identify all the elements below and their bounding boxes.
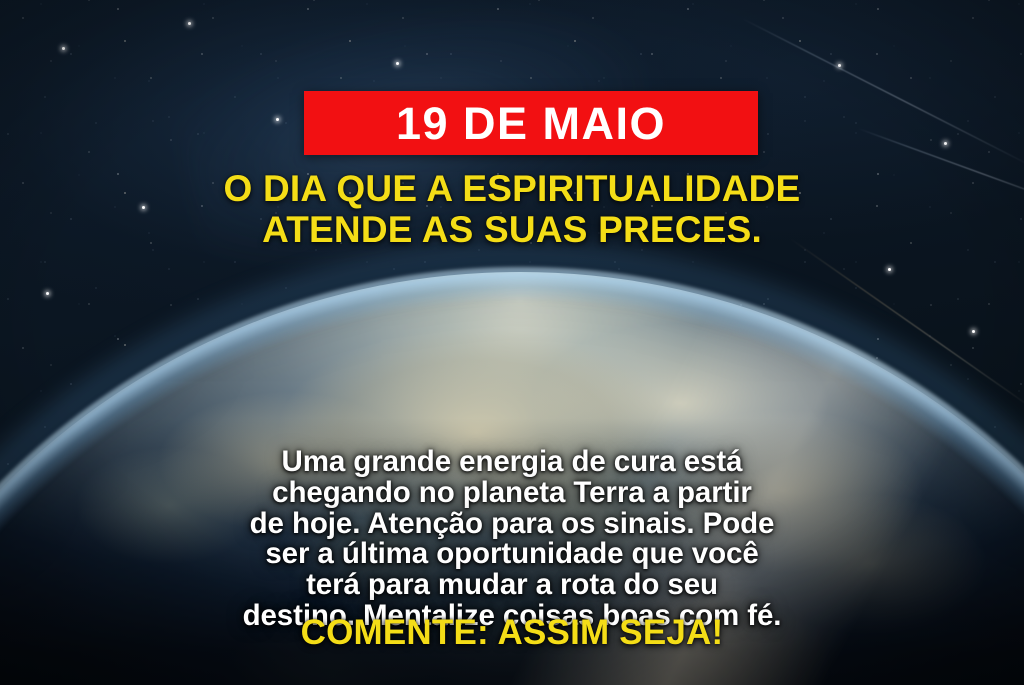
headline-line-2: ATENDE AS SUAS PRECES. bbox=[28, 209, 996, 250]
date-banner: 19 DE MAIO bbox=[304, 91, 758, 155]
date-banner-label: 19 DE MAIO bbox=[396, 101, 666, 146]
body-line: terá para mudar a rota do seu bbox=[52, 570, 972, 601]
body-paragraph: Uma grande energia de cura está chegando… bbox=[0, 447, 1024, 632]
poster-content: 19 DE MAIO O DIA QUE A ESPIRITUALIDADE A… bbox=[0, 0, 1024, 685]
body-line: de hoje. Atenção para os sinais. Pode bbox=[52, 509, 972, 540]
call-to-action: COMENTE: ASSIM SEJA! bbox=[0, 613, 1024, 653]
body-line: chegando no planeta Terra a partir bbox=[52, 478, 972, 509]
body-line: Uma grande energia de cura está bbox=[52, 447, 972, 478]
headline: O DIA QUE A ESPIRITUALIDADE ATENDE AS SU… bbox=[0, 168, 1024, 251]
body-line: ser a última oportunidade que você bbox=[52, 539, 972, 570]
headline-line-1: O DIA QUE A ESPIRITUALIDADE bbox=[224, 168, 801, 209]
poster-canvas: 19 DE MAIO O DIA QUE A ESPIRITUALIDADE A… bbox=[0, 0, 1024, 685]
